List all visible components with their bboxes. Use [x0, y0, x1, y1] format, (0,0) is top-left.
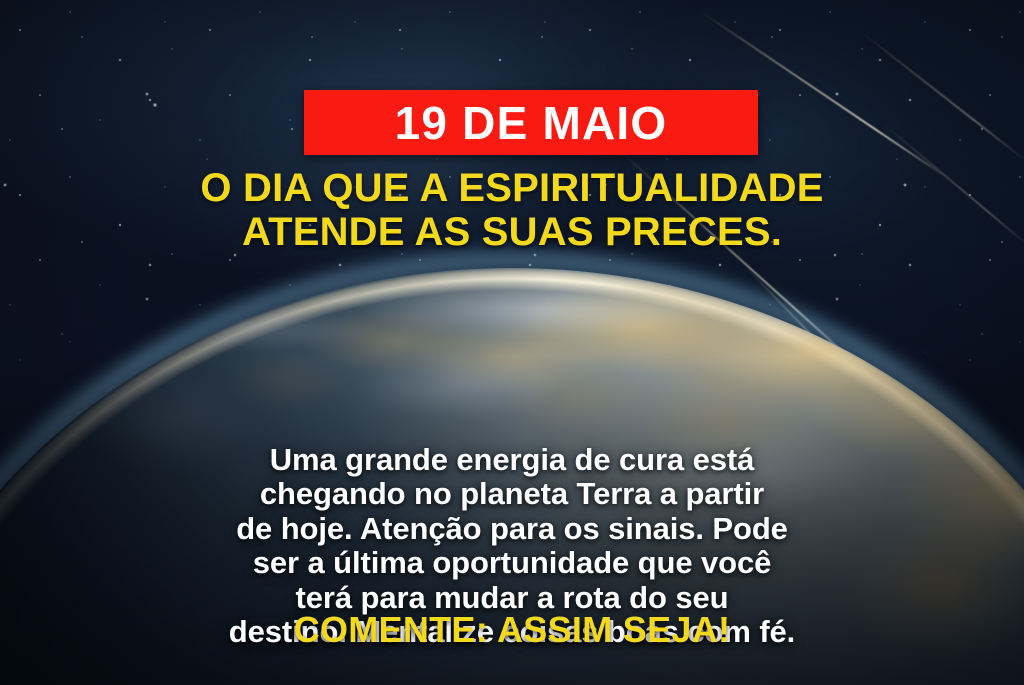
- date-banner: 19 DE MAIO: [304, 90, 758, 155]
- headline-line-1: O DIA QUE A ESPIRITUALIDADE: [46, 166, 978, 210]
- body-line-1: Uma grande energia de cura está: [52, 443, 972, 477]
- headline: O DIA QUE A ESPIRITUALIDADE ATENDE AS SU…: [0, 166, 1024, 254]
- date-banner-label: 19 DE MAIO: [395, 100, 668, 146]
- body-line-4: ser a última oportunidade que você: [52, 546, 972, 580]
- poster-content: 19 DE MAIO O DIA QUE A ESPIRITUALIDADE A…: [0, 0, 1024, 685]
- body-line-2: chegando no planeta Terra a partir: [52, 477, 972, 511]
- cta-label: COMENTE: ASSIM SEJA!: [294, 609, 731, 650]
- body-line-3: de hoje. Atenção para os sinais. Pode: [52, 512, 972, 546]
- call-to-action: COMENTE: ASSIM SEJA!: [0, 612, 1024, 648]
- headline-line-2: ATENDE AS SUAS PRECES.: [46, 210, 978, 254]
- poster: 19 DE MAIO O DIA QUE A ESPIRITUALIDADE A…: [0, 0, 1024, 685]
